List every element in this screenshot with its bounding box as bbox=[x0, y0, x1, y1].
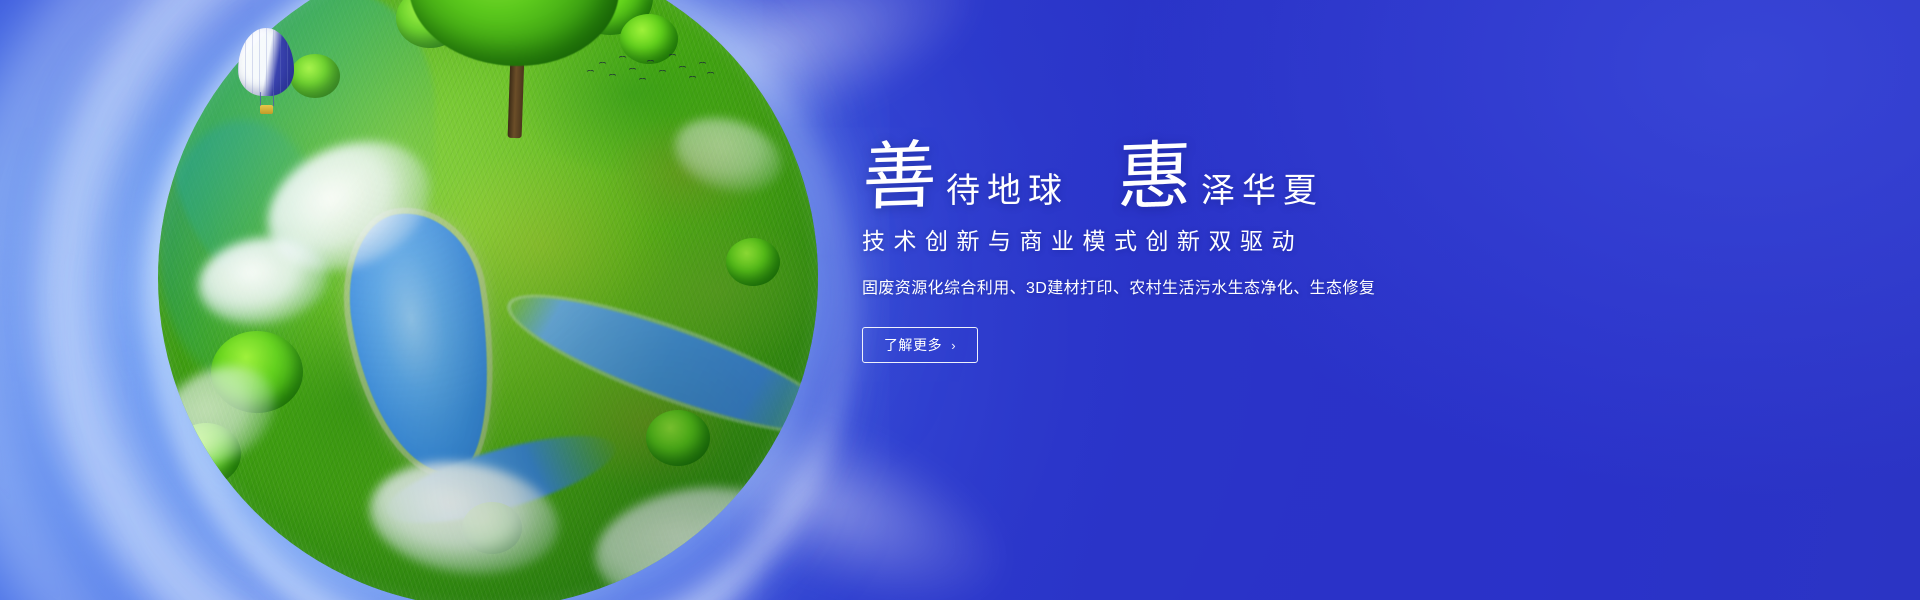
bird-icon bbox=[609, 74, 616, 78]
hero-subtitle: 技术创新与商业模式创新双驱动 bbox=[862, 226, 1482, 257]
tree-icon bbox=[726, 238, 780, 286]
headline-group-2: 惠 泽华夏 bbox=[1117, 144, 1324, 212]
learn-more-button[interactable]: 了解更多 › bbox=[862, 327, 978, 363]
hero-content: 善 待地球 惠 泽华夏 技术创新与商业模式创新双驱动 固废资源化综合利用、3D建… bbox=[862, 128, 1482, 363]
chevron-right-icon: › bbox=[951, 339, 956, 352]
bird-icon bbox=[587, 70, 594, 74]
balloon-gores bbox=[238, 28, 294, 96]
balloon-basket bbox=[260, 105, 273, 114]
bird-icon bbox=[699, 62, 706, 66]
bird-icon bbox=[707, 72, 714, 76]
bird-icon bbox=[629, 68, 636, 72]
balloon-lines bbox=[260, 92, 274, 106]
headline-lead-char-1: 善 bbox=[862, 141, 943, 212]
birds-flock-icon bbox=[585, 48, 715, 94]
tree-icon bbox=[646, 410, 710, 466]
tree-icon bbox=[290, 54, 340, 98]
bird-icon bbox=[689, 76, 696, 80]
bird-icon bbox=[599, 62, 606, 66]
headline-rest-chars-2: 泽华夏 bbox=[1197, 174, 1324, 212]
bird-icon bbox=[639, 78, 646, 82]
headline-rest-chars-1: 待地球 bbox=[942, 174, 1069, 212]
learn-more-label: 了解更多 bbox=[884, 335, 942, 355]
hot-air-balloon-icon bbox=[238, 28, 294, 120]
bird-icon bbox=[619, 56, 626, 60]
headline-lead-char-2: 惠 bbox=[1117, 141, 1198, 212]
bird-icon bbox=[679, 66, 686, 70]
hero-headline: 善 待地球 惠 泽华夏 bbox=[862, 128, 1482, 212]
hero-description: 固废资源化综合利用、3D建材打印、农村生活污水生态净化、生态修复 bbox=[862, 277, 1482, 301]
bird-icon bbox=[669, 54, 676, 58]
bird-icon bbox=[659, 70, 666, 74]
headline-group-1: 善 待地球 bbox=[862, 144, 1069, 212]
hero-banner: 善 待地球 惠 泽华夏 技术创新与商业模式创新双驱动 固废资源化综合利用、3D建… bbox=[0, 0, 1920, 600]
bird-icon bbox=[647, 60, 654, 64]
